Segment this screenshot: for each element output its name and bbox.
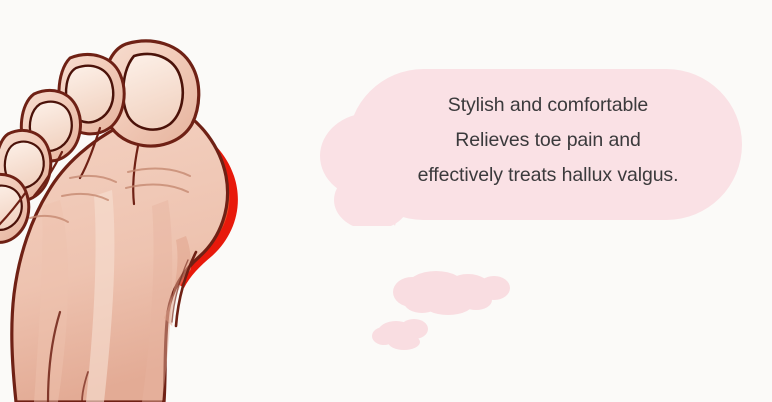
speech-bubble: Stylish and comfortable Relieves toe pai… <box>300 58 742 226</box>
bubble-line-1: Stylish and comfortable <box>360 88 736 123</box>
bunion-foot-illustration <box>0 0 300 402</box>
thought-puffs-group <box>370 258 530 358</box>
bubble-line-3: effectively treats hallux valgus. <box>360 158 736 193</box>
thought-puffs-svg <box>370 258 530 358</box>
bubble-line-2: Relieves toe pain and <box>360 123 736 158</box>
bubble-text-block: Stylish and comfortable Relieves toe pai… <box>360 88 736 193</box>
thought-puff-large <box>393 271 510 315</box>
screenshot-canvas: Stylish and comfortable Relieves toe pai… <box>0 0 772 402</box>
foot-svg <box>0 0 300 402</box>
thought-puff-small <box>372 319 428 350</box>
